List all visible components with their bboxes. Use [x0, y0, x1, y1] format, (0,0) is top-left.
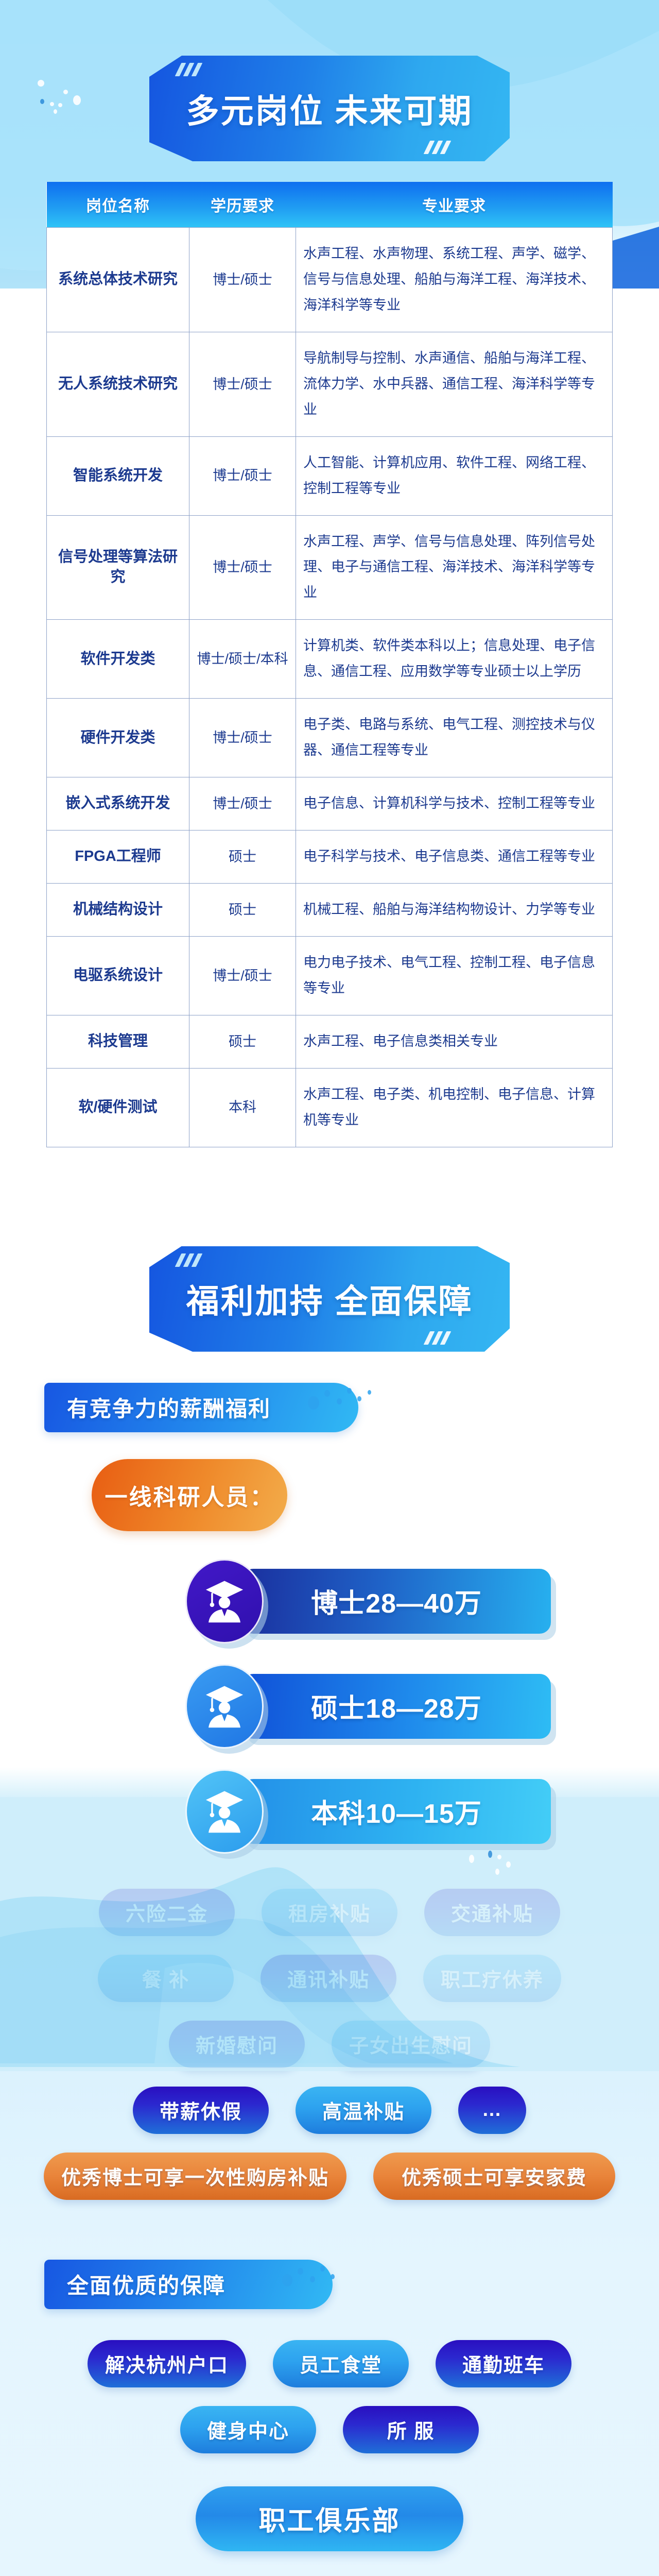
benefit-tag-row: 新婚慰问 子女出生慰问 [0, 2021, 659, 2068]
bubble-decor [497, 1855, 501, 1859]
cell-position-name: 电驱系统设计 [47, 936, 189, 1015]
table-row: 机械结构设计 硕士 机械工程、船舶与海洋结构物设计、力学等专业 [47, 883, 613, 936]
benefit-tag[interactable]: 高温补贴 [296, 2087, 431, 2134]
cell-position-name: FPGA工程师 [47, 831, 189, 884]
salary-bar-label: 博士28—40万 [311, 1582, 482, 1620]
droplet-decor [277, 2262, 359, 2307]
benefit-tag[interactable]: 租房补贴 [262, 1889, 397, 1936]
guarantee-heading: 全面优质的保障 [44, 2260, 333, 2309]
cell-major: 水声工程、电子类、机电控制、电子信息、计算机等专业 [296, 1068, 613, 1147]
cell-major: 电子类、电路与系统、电气工程、测控技术与仪器、通信工程等专业 [296, 699, 613, 777]
guarantee-heading-label: 全面优质的保障 [67, 2268, 226, 2300]
positions-banner: 多元岗位 未来可期 [0, 0, 659, 161]
cell-major: 机械工程、船舶与海洋结构物设计、力学等专业 [296, 883, 613, 936]
graduate-cap-icon [185, 1769, 264, 1854]
spacer [0, 2309, 659, 2340]
guarantee-tag[interactable]: 通勤班车 [436, 2340, 571, 2387]
table-row: 软/硬件测试 本科 水声工程、电子类、机电控制、电子信息、计算机等专业 [47, 1068, 613, 1147]
benefits-banner-title: 福利加持 全面保障 [186, 1275, 473, 1323]
guarantee-tag[interactable]: 健身中心 [180, 2406, 316, 2453]
cell-position-name: 硬件开发类 [47, 699, 189, 777]
benefit-tag[interactable]: 职工疗休养 [423, 1955, 561, 2002]
droplet-decor [303, 1385, 385, 1430]
salary-level-row: 硕士18—28万 [185, 1665, 659, 1748]
table-row: 电驱系统设计 博士/硕士 电力电子技术、电气工程、控制工程、电子信息等专业 [47, 936, 613, 1015]
table-row: FPGA工程师 硕士 电子科学与技术、电子信息类、通信工程等专业 [47, 831, 613, 884]
cell-position-name: 嵌入式系统开发 [47, 777, 189, 831]
cell-position-name: 系统总体技术研究 [47, 228, 189, 332]
benefit-tag-row: 餐 补 通讯补贴 职工疗休养 [0, 1955, 659, 2002]
spacer [0, 1352, 659, 1383]
cell-position-name: 机械结构设计 [47, 883, 189, 936]
cell-education: 博士/硕士 [189, 699, 296, 777]
guarantee-tag-list: 解决杭州户口 员工食堂 通勤班车 健身中心 所 服 [0, 2340, 659, 2453]
salary-bar: 硕士18—28万 [242, 1674, 551, 1739]
benefit-tag[interactable]: 通讯补贴 [261, 1955, 396, 2002]
benefits-banner: 福利加持 全面保障 [0, 1209, 659, 1352]
salary-level-list: 博士28—40万 硕士18—28万 [0, 1560, 659, 1853]
table-row: 无人系统技术研究 博士/硕士 导航制导与控制、水声通信、船舶与海洋工程、流体力学… [47, 332, 613, 436]
cell-position-name: 软件开发类 [47, 620, 189, 699]
audience-pill-label: 一线科研人员： [105, 1479, 274, 1512]
table-row: 信号处理等算法研究 博士/硕士 水声工程、声学、信号与信息处理、阵列信号处理、电… [47, 515, 613, 620]
positions-banner-title: 多元岗位 未来可期 [186, 85, 473, 132]
cell-position-name: 科技管理 [47, 1015, 189, 1068]
spacer [0, 1147, 659, 1209]
positions-table-area: 岗位名称 学历要求 专业要求 系统总体技术研究 博士/硕士 水声工程、水声物理、… [0, 161, 659, 1147]
benefit-tag-highlight[interactable]: 优秀博士可享一次性购房补贴 [44, 2153, 346, 2200]
cell-major: 电力电子技术、电气工程、控制工程、电子信息等专业 [296, 936, 613, 1015]
cell-position-name: 软/硬件测试 [47, 1068, 189, 1147]
benefit-tag[interactable]: 交通补贴 [424, 1889, 560, 1936]
cell-major: 电子信息、计算机科学与技术、控制工程等专业 [296, 777, 613, 831]
cell-education: 博士/硕士 [189, 332, 296, 436]
bubble-decor [506, 1861, 511, 1868]
salary-bar: 本科10—15万 [242, 1779, 551, 1844]
salary-heading: 有竞争力的薪酬福利 [44, 1383, 358, 1432]
cell-education: 本科 [189, 1068, 296, 1147]
spacer [0, 2218, 659, 2260]
column-header-education: 学历要求 [189, 182, 296, 228]
graduate-cap-icon [185, 1664, 264, 1749]
benefit-tag[interactable]: 新婚慰问 [169, 2021, 305, 2068]
cell-education: 博士/硕士/本科 [189, 620, 296, 699]
cell-major: 水声工程、水声物理、系统工程、声学、磁学、信号与信息处理、船舶与海洋工程、海洋技… [296, 228, 613, 332]
bubble-decor [495, 1869, 499, 1875]
table-header-row: 岗位名称 学历要求 专业要求 [47, 182, 613, 228]
column-header-major: 专业要求 [296, 182, 613, 228]
guarantee-tag[interactable]: 员工食堂 [273, 2340, 409, 2387]
salary-heading-label: 有竞争力的薪酬福利 [67, 1392, 271, 1423]
banner-shape-wrapper: 福利加持 全面保障 [149, 1246, 510, 1352]
benefit-tag-list: 六险二金 租房补贴 交通补贴 餐 补 通讯补贴 职工疗休养 新婚慰问 子女出生慰… [0, 1889, 659, 2200]
benefit-tag[interactable]: 六险二金 [99, 1889, 235, 1936]
cell-position-name: 智能系统开发 [47, 436, 189, 515]
salary-level-row: 本科10—15万 [185, 1770, 659, 1853]
cell-education: 硕士 [189, 831, 296, 884]
cell-major: 水声工程、声学、信号与信息处理、阵列信号处理、电子与通信工程、海洋技术、海洋科学… [296, 515, 613, 620]
positions-table: 岗位名称 学历要求 专业要求 系统总体技术研究 博士/硕士 水声工程、水声物理、… [46, 182, 613, 1147]
club-heading: 职工俱乐部 [196, 2486, 463, 2551]
cell-education: 博士/硕士 [189, 436, 296, 515]
cell-education: 硕士 [189, 883, 296, 936]
benefit-tag[interactable]: 带薪休假 [133, 2087, 269, 2134]
cell-major: 计算机类、软件类本科以上；信息处理、电子信息、通信工程、应用数学等专业硕士以上学… [296, 620, 613, 699]
salary-level-row: 博士28—40万 [185, 1560, 659, 1642]
guarantee-tag[interactable]: 解决杭州户口 [88, 2340, 246, 2387]
salary-bar-label: 硕士18—28万 [311, 1687, 482, 1725]
guarantee-tag-row: 解决杭州户口 员工食堂 通勤班车 [0, 2340, 659, 2387]
benefit-tag[interactable]: 子女出生慰问 [332, 2021, 490, 2068]
positions-table-head: 岗位名称 学历要求 专业要求 [47, 182, 613, 228]
cell-major: 导航制导与控制、水声通信、船舶与海洋工程、流体力学、水中兵器、通信工程、海洋科学… [296, 332, 613, 436]
banner-shape-wrapper: 多元岗位 未来可期 [149, 56, 510, 161]
cell-education: 博士/硕士 [189, 777, 296, 831]
guarantee-tag-row: 健身中心 所 服 [0, 2406, 659, 2453]
table-row: 智能系统开发 博士/硕士 人工智能、计算机应用、软件工程、网络工程、控制工程等专… [47, 436, 613, 515]
benefit-tag[interactable]: 餐 补 [98, 1955, 234, 2002]
cell-education: 硕士 [189, 1015, 296, 1068]
cell-education: 博士/硕士 [189, 228, 296, 332]
table-row: 软件开发类 博士/硕士/本科 计算机类、软件类本科以上；信息处理、电子信息、通信… [47, 620, 613, 699]
positions-table-body: 系统总体技术研究 博士/硕士 水声工程、水声物理、系统工程、声学、磁学、信号与信… [47, 228, 613, 1147]
benefit-tag-highlight[interactable]: 优秀硕士可享安家费 [373, 2153, 615, 2200]
salary-bar-label: 本科10—15万 [311, 1792, 482, 1831]
cell-education: 博士/硕士 [189, 515, 296, 620]
column-header-position-name: 岗位名称 [47, 182, 189, 228]
cell-position-name: 信号处理等算法研究 [47, 515, 189, 620]
table-row: 科技管理 硕士 水声工程、电子信息类相关专业 [47, 1015, 613, 1068]
audience-pill: 一线科研人员： [92, 1459, 287, 1531]
benefit-tag-row: 六险二金 租房补贴 交通补贴 [0, 1889, 659, 1936]
table-row: 硬件开发类 博士/硕士 电子类、电路与系统、电气工程、测控技术与仪器、通信工程等… [47, 699, 613, 777]
table-row: 系统总体技术研究 博士/硕士 水声工程、水声物理、系统工程、声学、磁学、信号与信… [47, 228, 613, 332]
table-row: 嵌入式系统开发 博士/硕士 电子信息、计算机科学与技术、控制工程等专业 [47, 777, 613, 831]
graduate-cap-icon [185, 1559, 264, 1643]
poster-page: 多元岗位 未来可期 岗位名称 学历要求 专业要求 系统总体技术研究 博士/硕士 … [0, 0, 659, 2576]
cell-education: 博士/硕士 [189, 936, 296, 1015]
bubble-decor [469, 1855, 474, 1863]
benefit-tag-row: 优秀博士可享一次性购房补贴 优秀硕士可享安家费 [0, 2153, 659, 2200]
cell-position-name: 无人系统技术研究 [47, 332, 189, 436]
cell-major: 电子科学与技术、电子信息类、通信工程等专业 [296, 831, 613, 884]
guarantee-tag[interactable]: 所 服 [343, 2406, 479, 2453]
benefit-tag-row: 带薪休假 高温补贴 … [0, 2087, 659, 2134]
cell-major: 人工智能、计算机应用、软件工程、网络工程、控制工程等专业 [296, 436, 613, 515]
benefit-tag-more[interactable]: … [458, 2087, 526, 2134]
cell-major: 水声工程、电子信息类相关专业 [296, 1015, 613, 1068]
club-heading-label: 职工俱乐部 [258, 2499, 400, 2538]
salary-bar: 博士28—40万 [242, 1569, 551, 1634]
